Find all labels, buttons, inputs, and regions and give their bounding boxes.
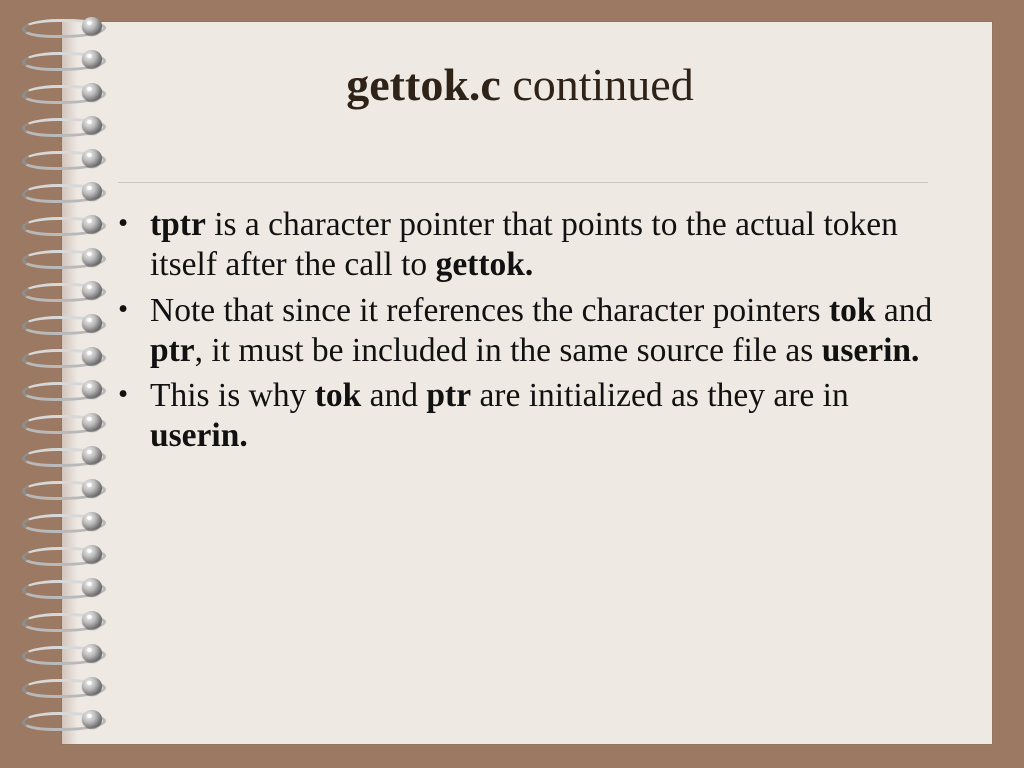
spiral-ring-icon: [16, 445, 112, 467]
spiral-ring-icon: [16, 16, 112, 38]
spiral-ring-icon: [16, 148, 112, 170]
spiral-ring-icon: [16, 643, 112, 665]
spiral-ring-icon: [16, 313, 112, 335]
spiral-ring-icon: [16, 544, 112, 566]
spiral-ring-icon: [16, 247, 112, 269]
spiral-ring-bead: [82, 677, 102, 695]
spiral-ring-bead: [82, 380, 102, 398]
bullet-text: This is why tok and ptr are initialized …: [150, 376, 938, 456]
spiral-ring-bead: [82, 512, 102, 530]
spiral-ring-bead: [82, 83, 102, 101]
bullet-text: tptr is a character pointer that points …: [150, 205, 938, 285]
spiral-ring-bead: [82, 17, 102, 35]
spiral-ring-bead: [82, 347, 102, 365]
bullet-item: •This is why tok and ptr are initialized…: [118, 376, 938, 456]
spiral-ring-icon: [16, 610, 112, 632]
spiral-ring-bead: [82, 479, 102, 497]
spiral-ring-icon: [16, 379, 112, 401]
spiral-ring-icon: [16, 82, 112, 104]
spiral-ring-icon: [16, 412, 112, 434]
spiral-ring-bead: [82, 182, 102, 200]
spiral-ring-icon: [16, 115, 112, 137]
spiral-ring-icon: [16, 280, 112, 302]
spiral-ring-bead: [82, 50, 102, 68]
spiral-ring-bead: [82, 314, 102, 332]
spiral-ring-bead: [82, 116, 102, 134]
slide: gettok.c continued •tptr is a character …: [0, 0, 1024, 768]
spiral-ring-icon: [16, 478, 112, 500]
bullet-marker-icon: •: [118, 291, 150, 328]
page-title: gettok.c continued: [110, 60, 930, 111]
spiral-ring-bead: [82, 281, 102, 299]
title-divider: [118, 182, 928, 183]
spiral-ring-icon: [16, 676, 112, 698]
spiral-ring-bead: [82, 248, 102, 266]
spiral-ring-bead: [82, 446, 102, 464]
spiral-ring-icon: [16, 346, 112, 368]
bullet-marker-icon: •: [118, 376, 150, 413]
spiral-ring-icon: [16, 577, 112, 599]
spiral-ring-bead: [82, 578, 102, 596]
spiral-ring-bead: [82, 710, 102, 728]
spiral-ring-bead: [82, 149, 102, 167]
spiral-ring-icon: [16, 511, 112, 533]
spiral-ring-bead: [82, 611, 102, 629]
spiral-ring-icon: [16, 214, 112, 236]
spiral-ring-icon: [16, 181, 112, 203]
bullet-item: •Note that since it references the chara…: [118, 291, 938, 371]
bullet-text: Note that since it references the charac…: [150, 291, 938, 371]
spiral-ring-icon: [16, 49, 112, 71]
bullet-list: •tptr is a character pointer that points…: [118, 205, 938, 462]
bullet-item: •tptr is a character pointer that points…: [118, 205, 938, 285]
spiral-ring-bead: [82, 413, 102, 431]
spiral-ring-icon: [16, 709, 112, 731]
spiral-ring-bead: [82, 644, 102, 662]
spiral-ring-bead: [82, 215, 102, 233]
bullet-marker-icon: •: [118, 205, 150, 242]
spiral-ring-bead: [82, 545, 102, 563]
